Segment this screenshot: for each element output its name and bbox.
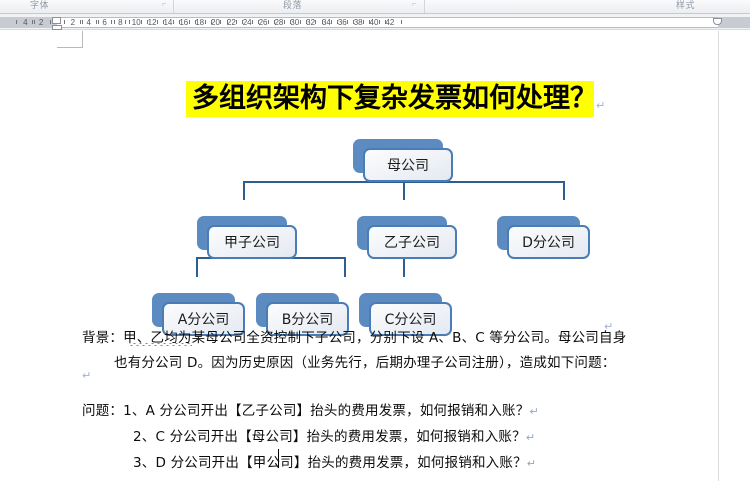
questions-line-1[interactable]: 问题：1、A 分公司开出【乙子公司】抬头的费用发票，如何报销和入账？↵ (82, 399, 539, 419)
ruler-number: 20 (211, 18, 220, 27)
ruler-number: 4 (86, 18, 90, 27)
ruler-tick (236, 20, 237, 24)
org-node-yi[interactable]: 乙子公司 (357, 216, 447, 250)
ruler-tick (401, 20, 402, 24)
ruler-number: 28 (274, 18, 283, 27)
node-label: 母公司 (387, 155, 429, 175)
ruler-tick (347, 20, 348, 24)
ruler-tick (141, 20, 142, 24)
paragraph-mark: ↵ (82, 369, 91, 382)
connector-to-yi (403, 181, 405, 200)
ruler-tick (300, 20, 301, 24)
questions-label: 问题： (82, 403, 123, 419)
connector-to-d (563, 181, 565, 200)
ruler-tick (284, 20, 285, 24)
ruler-number: 16 (179, 18, 188, 27)
ribbon-group-label-font: 字体 (30, 0, 49, 11)
ruler-tick (16, 20, 17, 24)
node-label: D分公司 (522, 232, 575, 252)
org-chart[interactable]: 母公司 甲子公司 乙子公司 D分公司 (0, 31, 750, 281)
question-item-2: 2、C 分公司开出【母公司】抬头的费用发票，如何报销和入账？ (133, 429, 526, 445)
horizontal-ruler[interactable]: 4224681012141618202224262830323436384042 (0, 14, 750, 30)
node-box: D分公司 (507, 225, 590, 259)
ruler-number: 2 (71, 18, 75, 27)
ruler-tick (315, 20, 316, 24)
ruler-tick (50, 20, 51, 24)
node-box: 甲子公司 (207, 225, 297, 259)
ruler-tick (173, 20, 174, 24)
word-application-window: 字体 ⌐ 段落 ⌐ 样式 422468101214161820222426283… (0, 0, 750, 481)
org-node-d[interactable]: D分公司 (497, 216, 580, 250)
ribbon-group-label-paragraph: 段落 (283, 0, 302, 11)
paragraph-mark: ↵ (527, 457, 536, 470)
ruler-number: 10 (132, 18, 141, 27)
paragraph-dialog-launcher-icon[interactable]: ⌐ (410, 1, 418, 9)
ruler-tick (32, 20, 33, 24)
ruler-number: 40 (370, 18, 379, 27)
paragraph-mark: ↵ (529, 405, 538, 418)
ruler-number: 22 (227, 18, 236, 27)
ruler-tick (82, 20, 83, 24)
paragraph-mark: ↵ (604, 320, 613, 333)
ruler-number: 6 (102, 18, 106, 27)
ruler-number: 34 (322, 18, 331, 27)
node-box: 母公司 (363, 148, 453, 182)
font-dialog-launcher-icon[interactable]: ⌐ (160, 1, 168, 9)
ruler-number: 30 (290, 18, 299, 27)
ruler-number: 38 (354, 18, 363, 27)
ruler-tick (157, 20, 158, 24)
left-indent-marker[interactable] (52, 25, 62, 30)
ribbon-group-divider (173, 0, 174, 13)
document-page[interactable]: 多组织架构下复杂发票如何处理？ ↵ 母公司 (0, 31, 750, 481)
ruler-number: 32 (306, 18, 315, 27)
ruler-number: 42 (385, 18, 394, 27)
background-paragraph-line-2[interactable]: 也有分公司 D。因为历史原因（业务先行，后期办理子公司注册），造成如下问题： (114, 351, 616, 371)
ruler-tick (363, 20, 364, 24)
ruler-right-margin-region[interactable] (718, 17, 750, 28)
ruler-tick (34, 20, 35, 24)
org-node-parent[interactable]: 母公司 (353, 139, 443, 173)
questions-line-2[interactable]: 2、C 分公司开出【母公司】抬头的费用发票，如何报销和入账？↵ (133, 425, 535, 445)
ruler-tick (189, 20, 190, 24)
ribbon-group-label-styles: 样式 (676, 0, 695, 11)
ruler-tick (331, 20, 332, 24)
question-item-3: 3、D 分公司开出【甲公司】抬头的费用发票，如何报销和入账？ (133, 455, 527, 471)
ruler-tick (96, 20, 97, 24)
ruler-tick (114, 20, 115, 24)
connector-to-b (344, 257, 346, 277)
ruler-tick (80, 20, 81, 24)
ruler-tick (129, 20, 130, 24)
node-label: 乙子公司 (384, 232, 440, 252)
org-node-b[interactable]: B分公司 (256, 293, 339, 327)
ruler-tick (205, 20, 206, 24)
ruler-tick (379, 20, 380, 24)
paragraph-mark: ↵ (526, 431, 535, 444)
ruler-tick (111, 20, 112, 24)
ruler-number: 8 (118, 18, 122, 27)
ruler-tick (252, 20, 253, 24)
ruler-number: 18 (195, 18, 204, 27)
ribbon-bottom-strip: 字体 ⌐ 段落 ⌐ 样式 (0, 0, 750, 14)
connector-to-a (196, 257, 198, 277)
ruler-tick (98, 20, 99, 24)
ruler-number: 12 (148, 18, 157, 27)
ruler-tick (125, 20, 126, 24)
question-item-1: 1、A 分公司开出【乙子公司】抬头的费用发票，如何报销和入账？ (123, 403, 529, 419)
ruler-number: 14 (163, 18, 172, 27)
right-indent-marker[interactable] (713, 18, 722, 25)
node-label: 甲子公司 (224, 232, 280, 252)
ruler-number: 4 (23, 18, 27, 27)
ruler-tick (220, 20, 221, 24)
ruler-number: 36 (338, 18, 347, 27)
node-box: 乙子公司 (367, 225, 457, 259)
questions-line-3[interactable]: 3、D 分公司开出【甲公司】抬头的费用发票，如何报销和入账？↵ (133, 451, 536, 471)
spellcheck-squiggle (130, 343, 192, 346)
ruler-number: 24 (243, 18, 252, 27)
text-cursor (278, 449, 279, 468)
connector-to-jia (243, 181, 245, 200)
ruler-number: 2 (39, 18, 43, 27)
org-node-a[interactable]: A分公司 (152, 293, 235, 327)
ribbon-group-divider (424, 0, 425, 13)
org-node-jia[interactable]: 甲子公司 (197, 216, 287, 250)
ruler-tick (64, 20, 65, 24)
ruler-left-margin-region[interactable] (0, 17, 57, 28)
ruler-tick (268, 20, 269, 24)
ruler-number: 26 (259, 18, 268, 27)
org-node-c[interactable]: C分公司 (359, 293, 442, 327)
first-line-indent-marker[interactable] (52, 17, 61, 24)
